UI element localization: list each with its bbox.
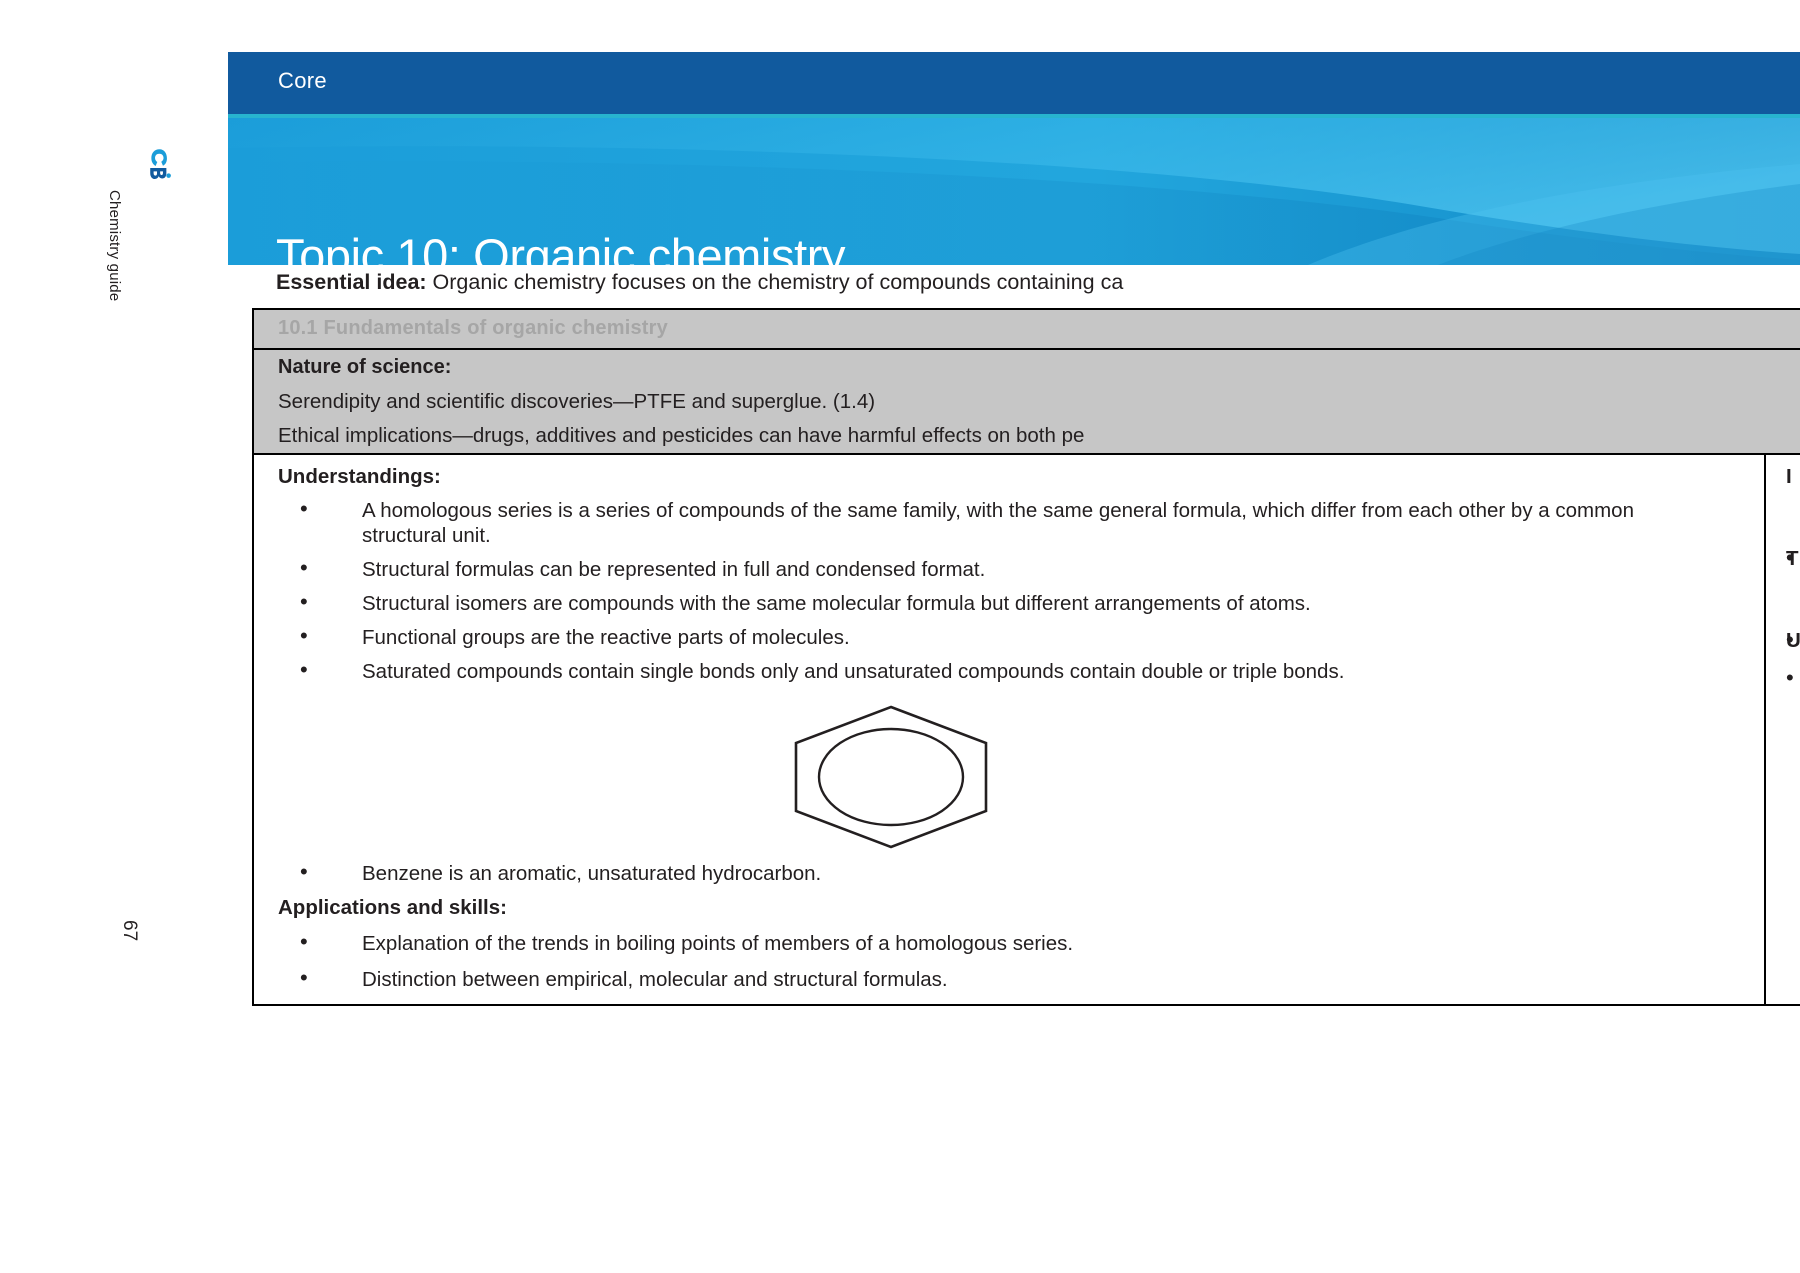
benzene-note-list: Benzene is an aromatic, unsaturated hydr…	[278, 861, 1764, 886]
essential-idea-label: Essential idea:	[276, 270, 427, 294]
syllabus-columns: Understandings: A homologous series is a…	[254, 453, 1800, 1004]
document-page: Chemistry guide 67	[0, 0, 1800, 1273]
topic-title: Topic 10: Organic chemistry	[276, 228, 845, 265]
understandings-heading: Understandings:	[278, 465, 1764, 489]
essential-idea: Essential idea: Organic chemistry focuse…	[276, 267, 1800, 297]
guidance-heading-1: I	[1786, 465, 1800, 489]
applications-heading: Applications and skills:	[278, 896, 1764, 920]
banner-section-label: Core	[278, 68, 327, 94]
applications-list: Explanation of the trends in boiling poi…	[278, 931, 1764, 992]
list-item: Structural isomers are compounds with th…	[278, 591, 1698, 616]
list-item: Functional groups are the reactive parts…	[278, 625, 1698, 650]
nature-of-science-heading: Nature of science:	[254, 350, 1800, 385]
page-side-margin: Chemistry guide 67	[0, 0, 228, 1273]
list-item: A homologous series is a series of compo…	[278, 498, 1698, 548]
nature-of-science-item: Serendipity and scientific discoveries—P…	[254, 385, 1800, 419]
list-item: Distinction between empirical, molecular…	[278, 967, 1698, 992]
banner-top-band	[228, 52, 1800, 114]
essential-idea-text: Organic chemistry focuses on the chemist…	[427, 270, 1124, 294]
syllabus-table: 10.1 Fundamentals of organic chemistry N…	[252, 308, 1800, 1006]
benzene-ring-diagram	[786, 703, 996, 851]
list-item: Saturated compounds contain single bonds…	[278, 659, 1698, 684]
syllabus-section-heading: 10.1 Fundamentals of organic chemistry	[254, 310, 1800, 350]
page-number: 67	[116, 920, 140, 980]
banner-body: Topic 10: Organic chemistry	[228, 118, 1800, 265]
benzene-diagram-wrapper	[278, 702, 1764, 852]
list-item: Benzene is an aromatic, unsaturated hydr…	[278, 861, 1698, 886]
guidance-column: I T U	[1766, 455, 1800, 1004]
ib-logo-icon	[145, 147, 173, 181]
topic-banner: Topic 10: Organic chemistry Core	[228, 52, 1800, 265]
list-item: Structural formulas can be represented i…	[278, 557, 1698, 582]
running-head: Chemistry guide	[101, 190, 123, 390]
list-item: Explanation of the trends in boiling poi…	[278, 931, 1698, 956]
nature-of-science-item: Ethical implications—drugs, additives an…	[254, 419, 1800, 453]
understandings-column: Understandings: A homologous series is a…	[254, 455, 1766, 1004]
understandings-list: A homologous series is a series of compo…	[278, 498, 1764, 684]
